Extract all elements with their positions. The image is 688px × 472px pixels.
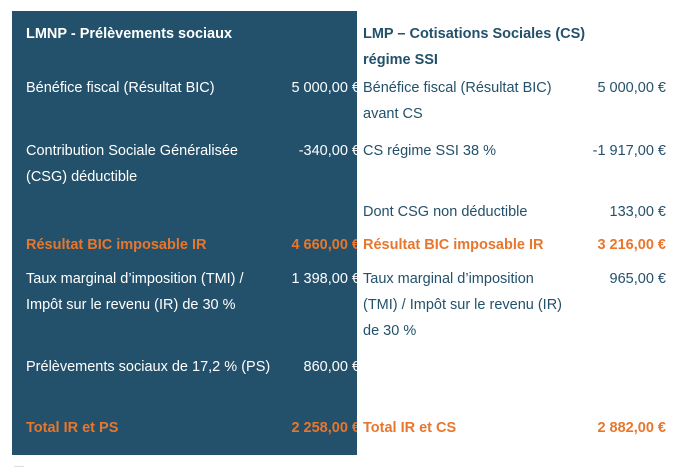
row-value: 4 660,00 € — [200, 232, 360, 258]
row-value: 5 000,00 € — [200, 75, 360, 101]
row-value: 1 398,00 € — [200, 266, 360, 292]
row-value: 2 258,00 € — [200, 415, 360, 441]
row-value: -340,00 € — [200, 138, 360, 164]
row-value: 133,00 € — [516, 199, 666, 225]
row-value: 965,00 € — [516, 266, 666, 292]
tax-comparison-table: LMNP - Prélèvements sociaux Bénéfice fis… — [0, 0, 688, 472]
row-value: 860,00 € — [200, 354, 360, 380]
row-value: -1 917,00 € — [516, 138, 666, 164]
lmp-column-title: LMP – Cotisations Sociales (CS) régime S… — [363, 21, 623, 73]
page-bottom-text-fragment: — — [14, 462, 54, 469]
row-value: 3 216,00 € — [516, 232, 666, 258]
lmnp-column-title: LMNP - Prélèvements sociaux — [26, 21, 346, 47]
row-value: 2 882,00 € — [516, 415, 666, 441]
lmnp-column-panel: LMNP - Prélèvements sociaux Bénéfice fis… — [12, 11, 357, 455]
row-value: 5 000,00 € — [516, 75, 666, 101]
lmp-column-panel: LMP – Cotisations Sociales (CS) régime S… — [357, 11, 688, 455]
